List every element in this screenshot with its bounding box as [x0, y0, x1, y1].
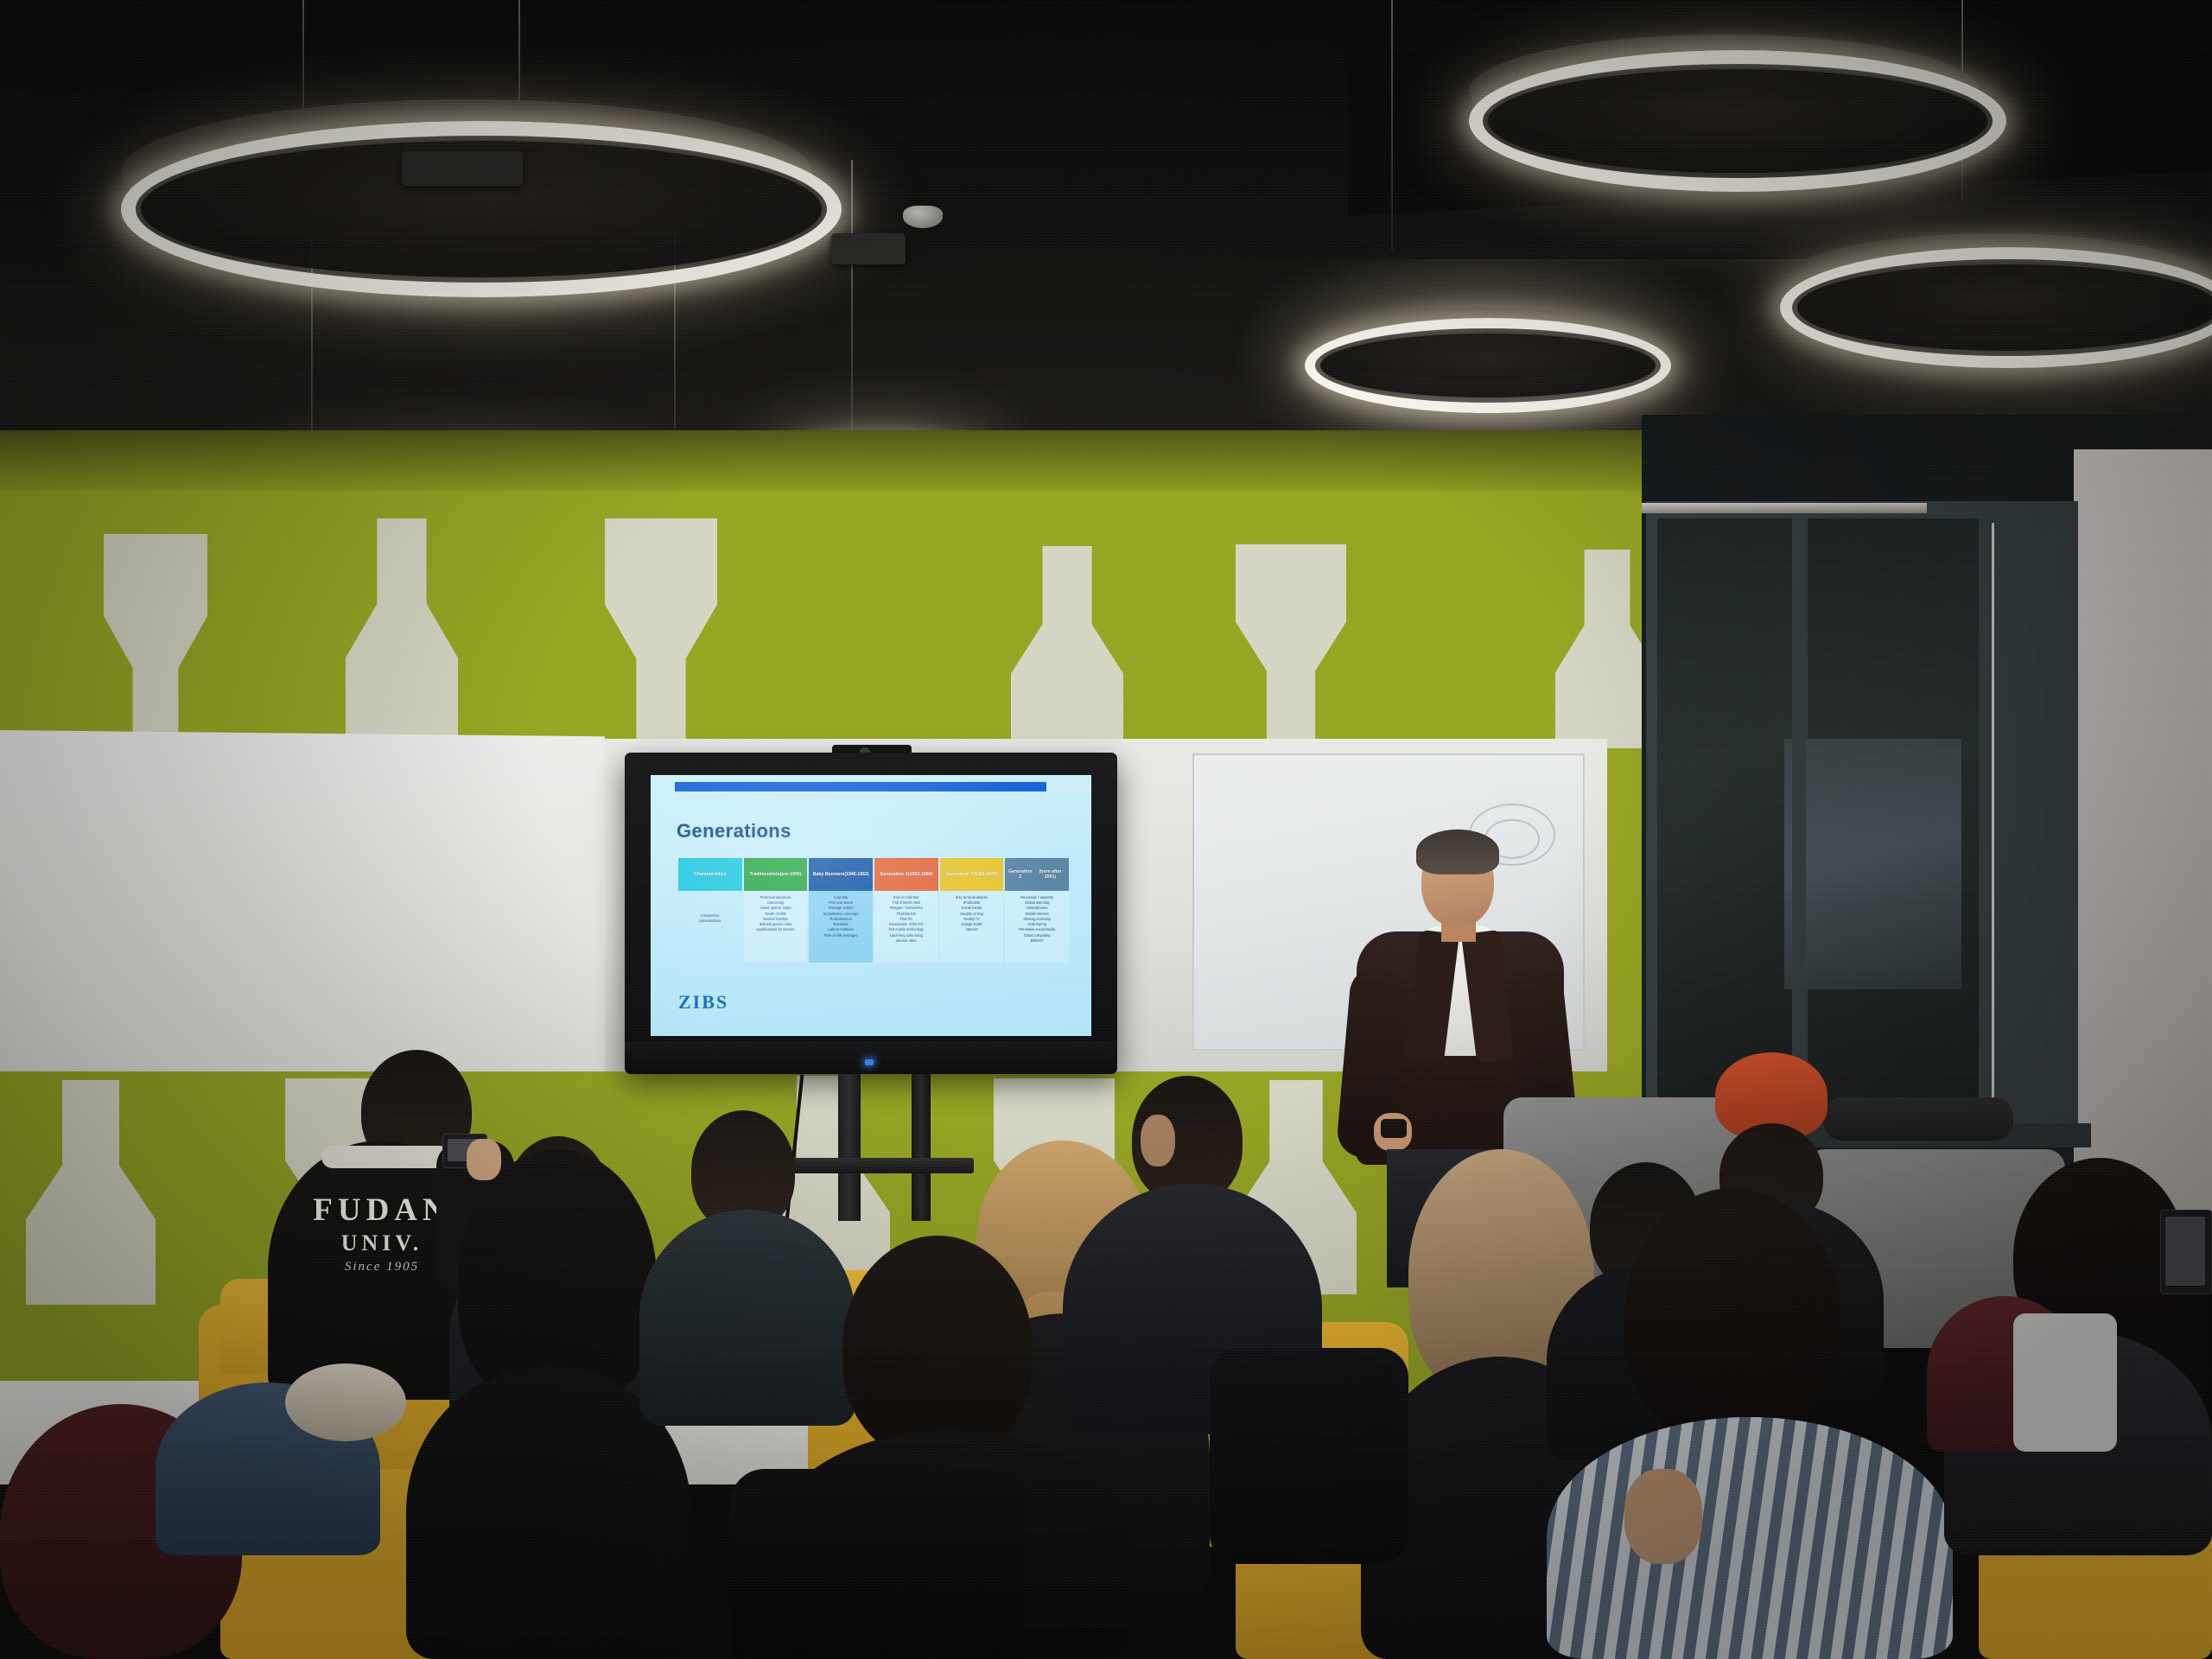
generations-column-header: Characteristics — [678, 858, 742, 891]
window-glass-left — [1657, 518, 1796, 1123]
ceiling-dome-camera-icon — [903, 206, 943, 228]
smartphone-screen — [2165, 1217, 2205, 1286]
generations-column-header: Traditionalists(pre-1945) — [744, 858, 808, 891]
lecture-room-photo: Generations Characteristics Irrespective… — [0, 0, 2212, 1659]
generations-table: Characteristics Irrespectivepresentation… — [678, 858, 1069, 981]
audience-shirt-collar — [2013, 1313, 2117, 1452]
generations-column: Characteristics Irrespectivepresentation… — [678, 858, 742, 981]
generations-column: Generation Y(1981-2000) 9/11 terrorist a… — [940, 858, 1004, 981]
generations-column: Generation Z(born after 2001) Recession … — [1005, 858, 1069, 981]
sill-cushion — [1823, 1097, 2013, 1141]
hoodie-collar — [321, 1146, 451, 1168]
generations-column-header: Baby Boomers(1945-1962) — [809, 858, 873, 891]
window-glass-panel — [1784, 739, 1961, 989]
display-stand-shelf — [791, 1158, 974, 1173]
generations-column: Baby Boomers(1945-1962) Cold WarPost-war… — [809, 858, 873, 981]
audience-striped-shirt — [1547, 1417, 1953, 1659]
generations-column-body: Cold WarPost-war BoomTeenage cultureSoci… — [809, 891, 873, 963]
slide-title: Generations — [677, 820, 791, 842]
slide-top-accent-bar-right — [1046, 782, 1091, 791]
generations-column-body: 9/11 terrorist attacksIPod/tabletSocial … — [940, 891, 1004, 963]
wall-white-band-left — [0, 730, 605, 1086]
display-chin — [625, 1041, 1117, 1074]
display-stand-column — [838, 1074, 861, 1221]
audience-hand — [467, 1139, 501, 1180]
generations-column-body: Technical advancesOutcomingmixed opener,… — [744, 891, 808, 963]
generations-column-body: Recession / austerityGlobal warmingSmart… — [1005, 891, 1069, 963]
blind-cord — [1992, 523, 1994, 1102]
generations-column: Traditionalists(pre-1945) Technical adva… — [744, 858, 808, 981]
presentation-display[interactable]: Generations Characteristics Irrespective… — [651, 775, 1091, 1036]
generations-column: Generation X(1963-1980) End of Cold WarF… — [874, 858, 938, 981]
generations-column-header: Generation Z(born after 2001) — [1005, 858, 1069, 891]
backpack — [1210, 1348, 1408, 1564]
slide-logo: ZIBS — [678, 991, 728, 1014]
fur-trim — [285, 1363, 406, 1441]
display-brand-label — [851, 1048, 891, 1055]
display-stand-column — [912, 1074, 931, 1221]
audience-hand — [1624, 1469, 1702, 1564]
ring-light-4 — [1469, 50, 2006, 192]
display-power-led-icon — [865, 1059, 874, 1065]
generations-column-header: Generation Y(1981-2000) — [940, 858, 1004, 891]
generations-column-body: Irrespectivepresentations — [678, 891, 742, 981]
presenter-clicker — [1381, 1119, 1407, 1138]
slide-generations: Generations Characteristics Irrespective… — [651, 775, 1091, 1036]
ring-light-6 — [1305, 318, 1671, 413]
audience-head — [1624, 1188, 1840, 1447]
pendant-cable — [851, 160, 853, 462]
audience-jacket — [639, 1210, 855, 1426]
back-wall-shadow-band — [0, 430, 1694, 491]
generations-column-body: End of Cold WarFall of Berlin WallReagan… — [874, 891, 938, 963]
window-mullion — [1792, 514, 1806, 1128]
right-wall-plaster — [2074, 449, 2212, 1227]
ring-light-1 — [121, 121, 842, 297]
generations-column-header: Generation X(1963-1980) — [874, 858, 938, 891]
audience-head — [842, 1236, 1033, 1460]
ceiling-speaker-box — [831, 233, 906, 264]
draped-coat — [730, 1469, 1024, 1659]
audience-face — [1141, 1115, 1175, 1166]
ceiling-projector-mount — [402, 151, 523, 186]
slide-top-accent-bar — [675, 782, 1046, 791]
ring-light-5 — [1780, 247, 2212, 368]
curtain-rail — [1642, 503, 1927, 513]
pendant-cable — [1391, 0, 1393, 251]
presenter-hair — [1416, 829, 1499, 874]
